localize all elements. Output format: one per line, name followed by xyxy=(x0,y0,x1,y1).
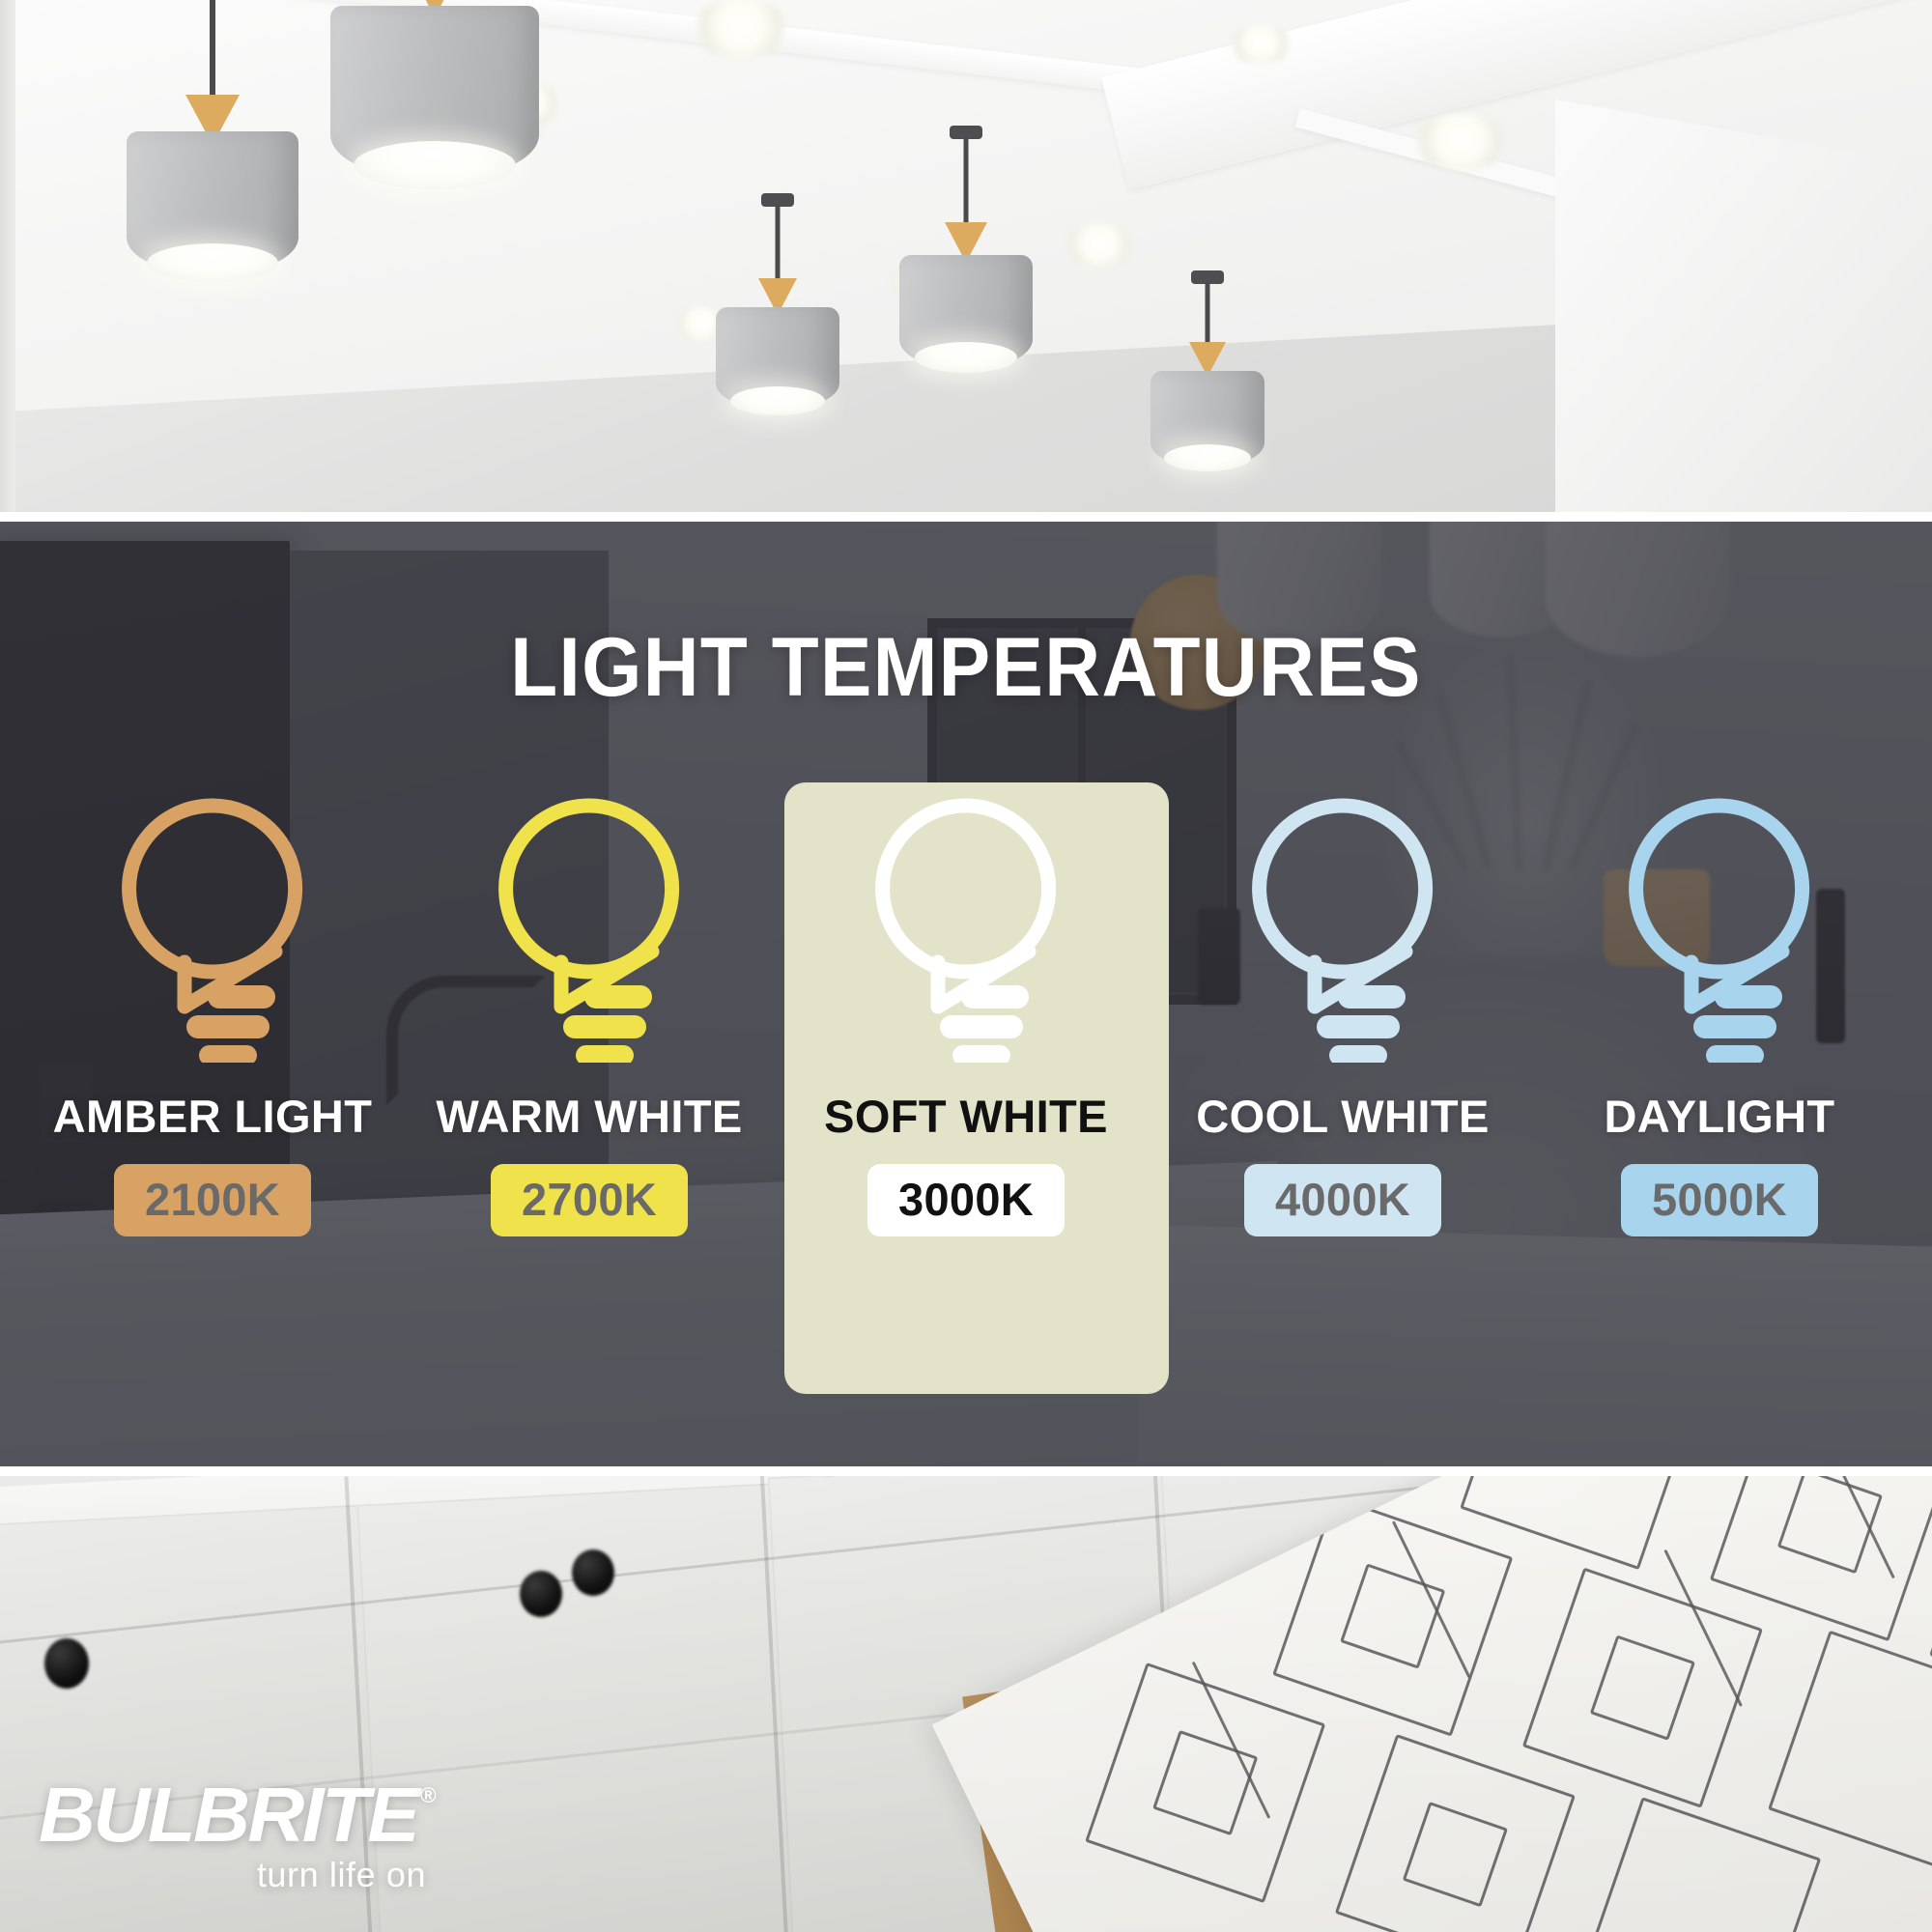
pendant-light xyxy=(715,193,840,415)
brand-wordmark: BULBRITE ® xyxy=(39,1779,434,1851)
temperature-name: SOFT WHITE xyxy=(824,1090,1108,1143)
brand-logo: BULBRITE ® turn life on xyxy=(43,1779,430,1895)
kelvin-badge: 5000K xyxy=(1621,1164,1818,1236)
recessed-light xyxy=(1061,224,1138,267)
lightbulb-icon xyxy=(1232,792,1454,1063)
pendant-light xyxy=(328,0,541,222)
temperature-column-amber-light[interactable]: AMBER LIGHT 2100K xyxy=(24,792,401,1236)
kelvin-badge: 4000K xyxy=(1244,1164,1441,1236)
pendant-light xyxy=(898,126,1034,386)
lightbulb-icon xyxy=(101,792,324,1063)
pendant-cord xyxy=(776,205,781,286)
wall-left-edge xyxy=(0,0,15,522)
recessed-light xyxy=(1408,114,1513,170)
brand-name: BULBRITE xyxy=(39,1779,417,1851)
registered-trademark-icon: ® xyxy=(420,1785,434,1806)
pendant-light xyxy=(126,0,299,299)
pendant-glow xyxy=(147,243,278,282)
brand-tagline: turn life on xyxy=(43,1855,430,1895)
main-panel: LIGHT TEMPERATURES xyxy=(0,522,1932,1468)
light-temperatures-poster: LIGHT TEMPERATURES xyxy=(0,0,1932,1932)
kelvin-badge: 2700K xyxy=(491,1164,688,1236)
band-separator-top xyxy=(0,512,1932,522)
pendant-glow xyxy=(915,342,1017,373)
temperature-column-daylight[interactable]: DAYLIGHT 5000K xyxy=(1531,792,1908,1236)
pendant-cord xyxy=(964,137,969,230)
temperature-name: AMBER LIGHT xyxy=(53,1090,373,1143)
lightbulb-icon xyxy=(855,792,1077,1063)
band-separator-bottom xyxy=(0,1466,1932,1476)
pendant-glow xyxy=(1164,444,1251,471)
kelvin-badge: 3000K xyxy=(867,1164,1065,1236)
kelvin-badge: 2100K xyxy=(114,1164,311,1236)
lightbulb-icon xyxy=(478,792,700,1063)
lightbulb-icon xyxy=(1608,792,1831,1063)
bottom-photo-band: BULBRITE ® turn life on xyxy=(0,1476,1932,1932)
temperature-columns: AMBER LIGHT 2100K xyxy=(0,792,1932,1236)
temperature-name: DAYLIGHT xyxy=(1604,1090,1834,1143)
temperature-column-warm-white[interactable]: WARM WHITE 2700K xyxy=(401,792,778,1236)
pendant-light xyxy=(1150,270,1265,512)
page-title: LIGHT TEMPERATURES xyxy=(68,626,1864,709)
wall-right xyxy=(1555,99,1932,522)
temperature-name: WARM WHITE xyxy=(436,1090,742,1143)
temperature-name: COOL WHITE xyxy=(1196,1090,1489,1143)
temperature-column-cool-white[interactable]: COOL WHITE 4000K xyxy=(1154,792,1531,1236)
pendant-cord xyxy=(210,0,215,106)
top-photo-band xyxy=(0,0,1932,522)
temperature-column-soft-white[interactable]: SOFT WHITE 3000K xyxy=(778,792,1154,1236)
recessed-light xyxy=(688,0,794,58)
recessed-light xyxy=(1227,25,1294,64)
pendant-cord xyxy=(1206,282,1210,350)
pendant-glow xyxy=(730,386,825,415)
pendant-glow xyxy=(354,141,516,189)
